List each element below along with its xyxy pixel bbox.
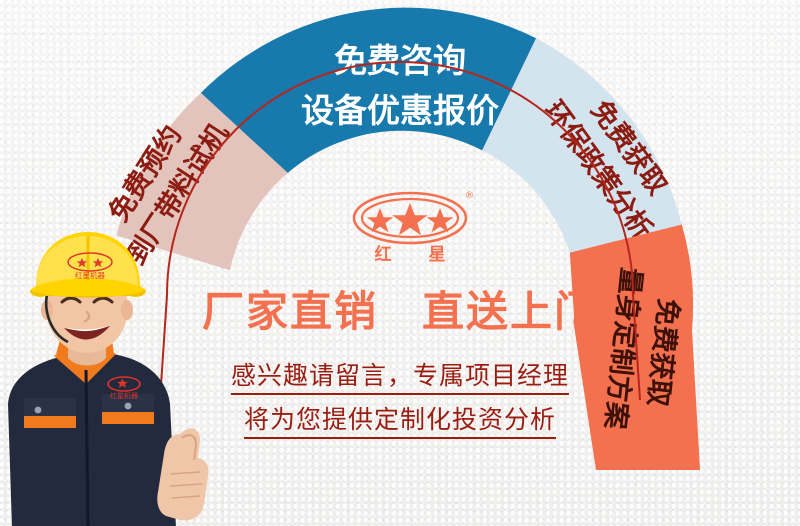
page-title: 厂家直销 直送上门	[180, 278, 620, 339]
worker-pocket-left	[24, 414, 76, 428]
subline-2-text: 将为您提供定制化投资分析	[244, 405, 556, 439]
logo-text-left: 红	[375, 244, 392, 265]
logo-stars	[367, 203, 454, 235]
subline-1: 感兴趣请留言，专属项目经理	[180, 356, 620, 392]
smiling-worker-photo: 红星机器	[0, 228, 224, 526]
svg-text:红星机器: 红星机器	[110, 391, 138, 400]
subline-2: 将为您提供定制化投资分析	[180, 400, 620, 436]
subline-1-text: 感兴趣请留言，专属项目经理	[231, 361, 569, 395]
hard-hat-logo-text: 红星机器	[75, 270, 105, 280]
free-consultation-line2: 设备优惠报价	[301, 91, 499, 130]
free-consultation-line1: 免费咨询	[334, 41, 466, 80]
registered-mark-icon: ®	[465, 191, 474, 201]
hongxing-logo-mark: ® 红 星	[345, 182, 475, 268]
worker-uniform: 红星机器	[8, 340, 176, 526]
promo-banner: 免费预约 到厂带料试机 免费咨询 设备优惠报价 免费获取 环保政策分析	[0, 0, 800, 526]
logo-text-right: 星	[429, 245, 446, 265]
worker-pocket-right	[102, 410, 154, 424]
hard-hat: 红星机器	[30, 232, 146, 298]
hongxing-logo: ® 红 星	[345, 182, 475, 268]
